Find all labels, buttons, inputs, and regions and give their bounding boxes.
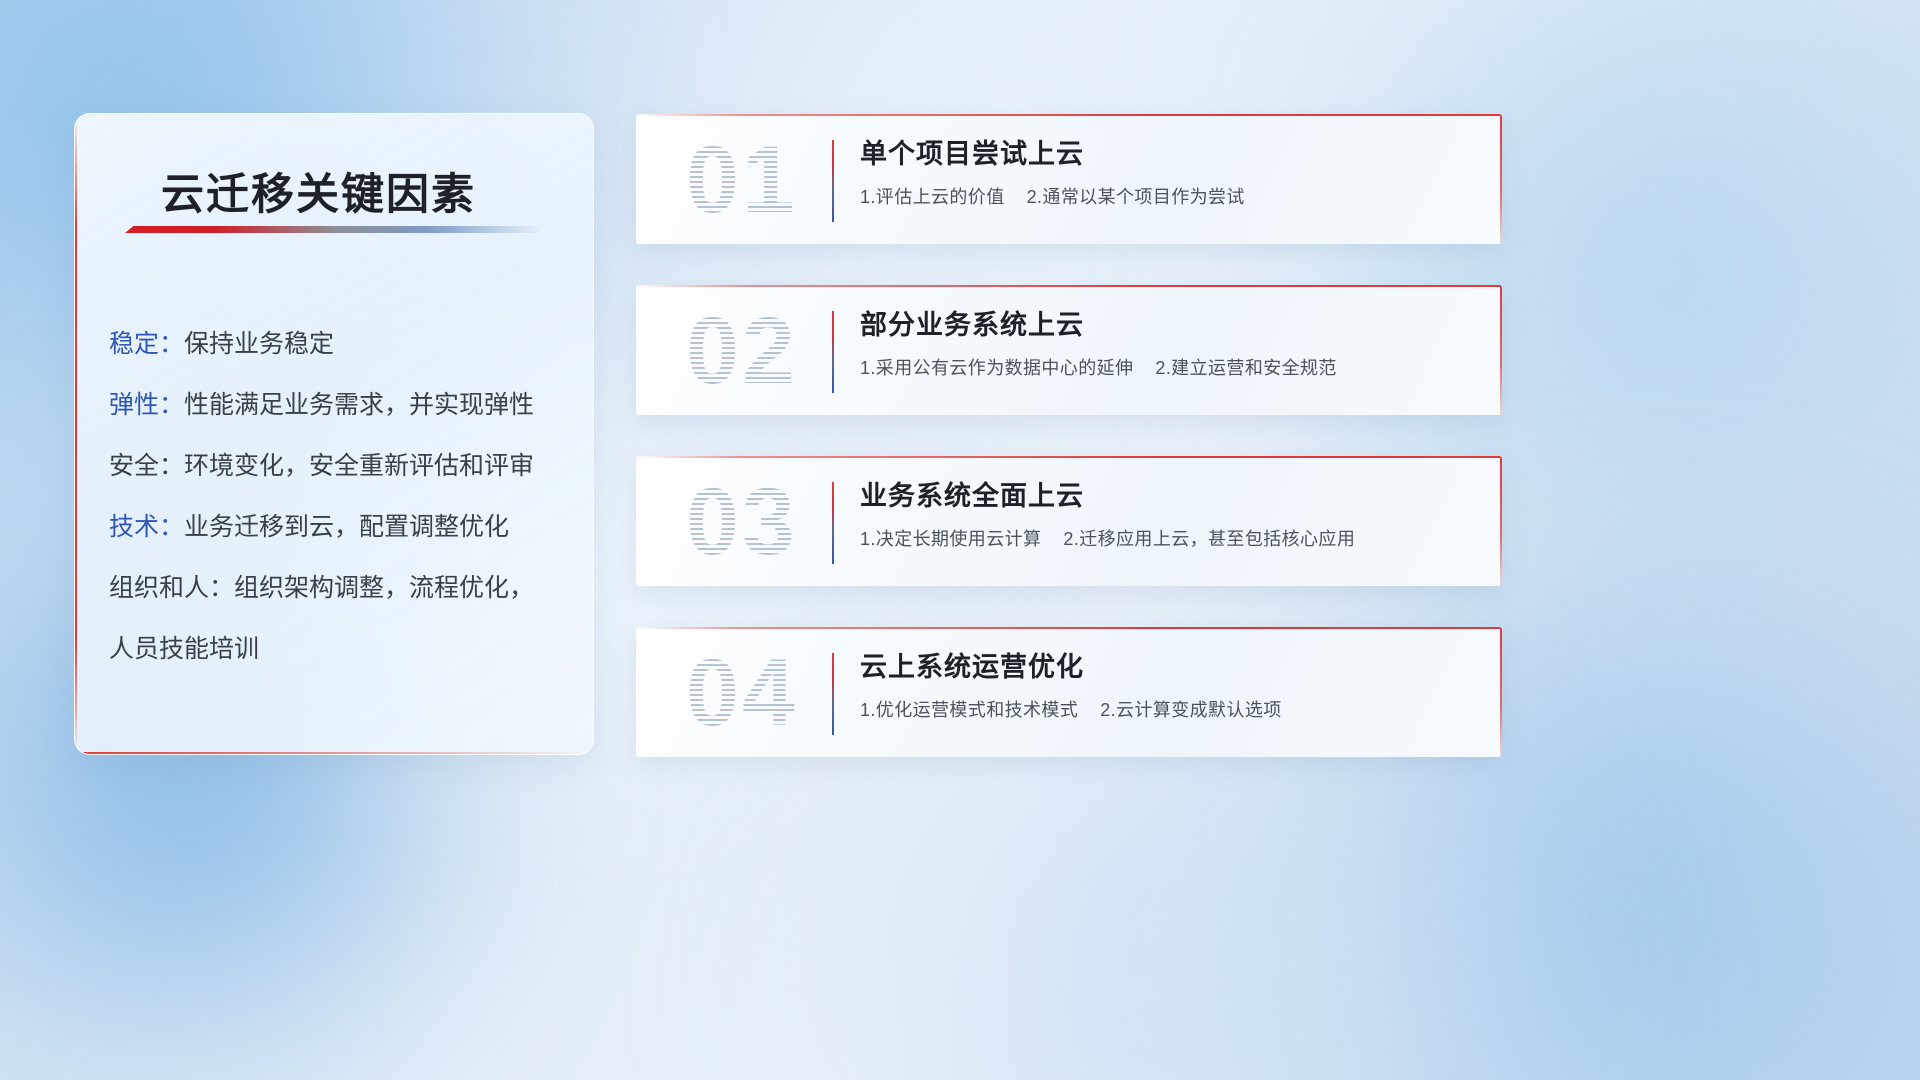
key-factors-panel: 云迁移关键因素 稳定：保持业务稳定弹性：性能满足业务需求，并实现弹性安全：环境变…	[74, 113, 594, 755]
card-divider-bar	[832, 482, 834, 564]
factor-value: 人员技能培训	[109, 635, 259, 663]
factor-key: 安全：	[109, 452, 184, 480]
factor-value: 保持业务稳定	[184, 330, 334, 358]
card-divider-bar	[832, 311, 834, 393]
card-point: 2.通常以某个项目作为尝试	[1027, 184, 1245, 210]
card-body: 业务系统全面上云1.决定长期使用云计算2.迁移应用上云，甚至包括核心应用	[860, 476, 1478, 552]
stage-number-text: 02	[686, 297, 798, 406]
card-body: 部分业务系统上云1.采用公有云作为数据中心的延伸2.建立运营和安全规范	[860, 305, 1478, 381]
migration-stage-cards: 01单个项目尝试上云1.评估上云的价值2.通常以某个项目作为尝试02部分业务系统…	[636, 114, 1502, 798]
stage-number: 02	[662, 295, 822, 407]
card-point: 1.优化运营模式和技术模式	[860, 697, 1078, 723]
factor-row: 技术：业务迁移到云，配置调整优化	[109, 497, 569, 558]
factor-value: 性能满足业务需求，并实现弹性	[184, 391, 534, 419]
factor-value: 组织架构调整，流程优化，	[234, 574, 534, 602]
stage-number-text: 01	[686, 126, 798, 235]
factor-row: 弹性：性能满足业务需求，并实现弹性	[109, 375, 569, 436]
factor-key: 弹性：	[109, 391, 184, 419]
card-description: 1.优化运营模式和技术模式2.云计算变成默认选项	[860, 697, 1478, 723]
stage-card[interactable]: 03业务系统全面上云1.决定长期使用云计算2.迁移应用上云，甚至包括核心应用	[636, 456, 1502, 586]
card-point: 1.决定长期使用云计算	[860, 526, 1041, 552]
card-body: 云上系统运营优化1.优化运营模式和技术模式2.云计算变成默认选项	[860, 647, 1478, 723]
card-title: 云上系统运营优化	[860, 647, 1478, 687]
stage-number-text: 04	[686, 639, 798, 748]
stage-card[interactable]: 02部分业务系统上云1.采用公有云作为数据中心的延伸2.建立运营和安全规范	[636, 285, 1502, 415]
stage-number-text: 03	[686, 468, 798, 577]
card-point: 2.建立运营和安全规范	[1155, 355, 1336, 381]
factor-row: 组织和人：组织架构调整，流程优化，	[109, 558, 569, 619]
card-title: 部分业务系统上云	[860, 305, 1478, 345]
factor-key: 技术：	[109, 513, 184, 541]
card-description: 1.评估上云的价值2.通常以某个项目作为尝试	[860, 184, 1478, 210]
card-description: 1.决定长期使用云计算2.迁移应用上云，甚至包括核心应用	[860, 526, 1478, 552]
card-title: 单个项目尝试上云	[860, 134, 1478, 174]
stage-card[interactable]: 04云上系统运营优化1.优化运营模式和技术模式2.云计算变成默认选项	[636, 627, 1502, 757]
factor-row: 稳定：保持业务稳定	[109, 314, 569, 375]
factor-key: 稳定：	[109, 330, 184, 358]
card-description: 1.采用公有云作为数据中心的延伸2.建立运营和安全规范	[860, 355, 1478, 381]
stage-number: 04	[662, 637, 822, 749]
slide-stage: 云迁移关键因素 稳定：保持业务稳定弹性：性能满足业务需求，并实现弹性安全：环境变…	[0, 0, 1920, 1080]
factor-row: 安全：环境变化，安全重新评估和评审	[109, 436, 569, 497]
factor-row: 人员技能培训	[109, 619, 569, 680]
card-title: 业务系统全面上云	[860, 476, 1478, 516]
card-point: 2.迁移应用上云，甚至包括核心应用	[1063, 526, 1355, 552]
panel-title: 云迁移关键因素	[161, 160, 476, 222]
factor-list: 稳定：保持业务稳定弹性：性能满足业务需求，并实现弹性安全：环境变化，安全重新评估…	[109, 314, 569, 680]
factor-value: 业务迁移到云，配置调整优化	[184, 513, 509, 541]
title-underline-rule	[125, 226, 545, 233]
card-divider-bar	[832, 140, 834, 222]
card-point: 2.云计算变成默认选项	[1100, 697, 1281, 723]
stage-number: 03	[662, 466, 822, 578]
stage-card[interactable]: 01单个项目尝试上云1.评估上云的价值2.通常以某个项目作为尝试	[636, 114, 1502, 244]
card-body: 单个项目尝试上云1.评估上云的价值2.通常以某个项目作为尝试	[860, 134, 1478, 210]
card-point: 1.采用公有云作为数据中心的延伸	[860, 355, 1133, 381]
stage-number: 01	[662, 124, 822, 236]
factor-value: 环境变化，安全重新评估和评审	[184, 452, 534, 480]
card-divider-bar	[832, 653, 834, 735]
factor-key: 组织和人：	[109, 574, 234, 602]
card-point: 1.评估上云的价值	[860, 184, 1005, 210]
